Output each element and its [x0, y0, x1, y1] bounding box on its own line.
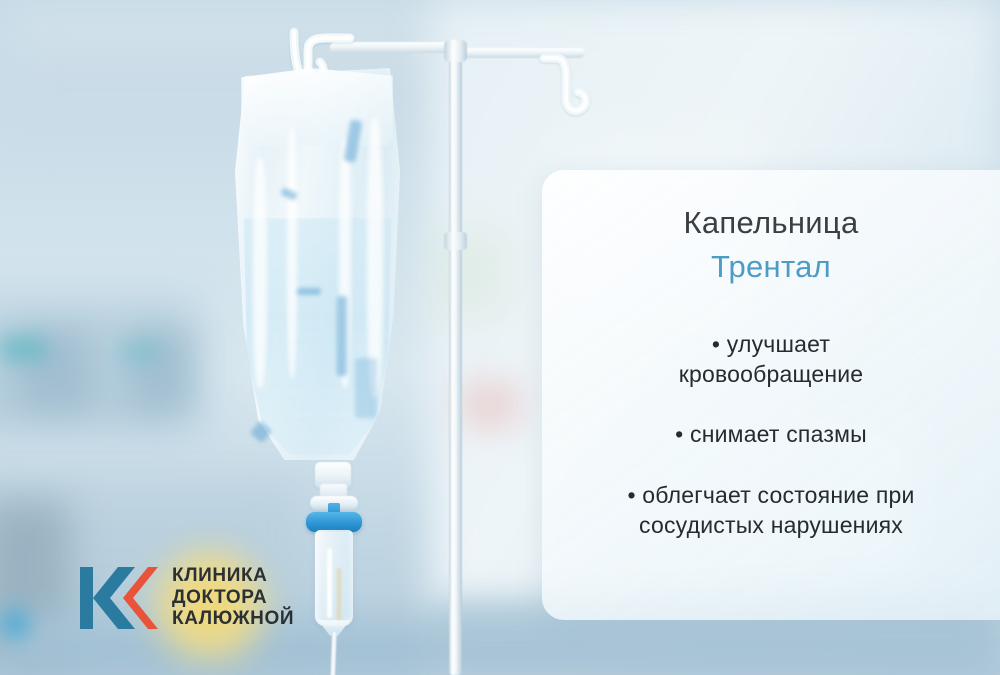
panel-title-accent: Трентал [572, 249, 970, 285]
benefits-list: • улучшает кровообращение • снимает спаз… [572, 329, 970, 541]
iv-fluid-bag [235, 68, 400, 468]
screenshot-canvas: Капельница Трентал • улучшает кровообращ… [0, 0, 1000, 675]
iv-bag-tint-c [337, 296, 347, 376]
clinic-logo-text: КЛИНИКА ДОКТОРА КАЛЮЖНОЙ [172, 566, 294, 630]
drip-chamber-inner-a [327, 548, 332, 618]
background-blue-glow [0, 600, 40, 648]
panel-title: Капельница [572, 204, 970, 243]
list-item: • улучшает кровообращение [580, 329, 962, 390]
drip-chamber-inner-b [337, 568, 341, 622]
iv-pole-collar-top [444, 40, 467, 62]
list-item-line2: сосудистых нарушениях [639, 512, 903, 538]
background-blur-green [430, 230, 510, 320]
iv-pole-collar-mid [444, 232, 467, 250]
list-item: • снимает спазмы [580, 419, 962, 449]
drip-chamber-collar [306, 512, 362, 532]
iv-pole [449, 40, 462, 675]
bullet-marker: • [712, 331, 720, 357]
clinic-logo-line-3: КАЛЮЖНОЙ [172, 609, 294, 630]
background-blur-pink [460, 380, 520, 430]
bullet-marker: • [627, 482, 635, 508]
iv-bag-fold-b [287, 128, 297, 378]
iv-bag-tint-f [355, 358, 377, 418]
list-item-line1: облегчает состояние при [642, 482, 914, 508]
iv-bag-tint-b [297, 288, 321, 295]
drip-chamber [315, 530, 353, 626]
right-hook-icon [538, 40, 618, 140]
background-teal-accent-b [120, 342, 160, 362]
info-panel: Капельница Трентал • улучшает кровообращ… [542, 170, 1000, 620]
list-item-line1: улучшает [727, 331, 830, 357]
list-item: • облегчает состояние при сосудистых нар… [580, 480, 962, 541]
clinic-logo: КЛИНИКА ДОКТОРА КАЛЮЖНОЙ [78, 556, 308, 640]
clinic-logo-line-1: КЛИНИКА [172, 566, 294, 587]
list-item-line1: снимает спазмы [690, 421, 867, 447]
iv-bag-fold-d [367, 118, 383, 398]
bullet-marker: • [675, 421, 683, 447]
iv-bag-fold-a [253, 158, 267, 388]
background-teal-accent-a [0, 336, 46, 362]
list-item-line2: кровообращение [679, 361, 864, 387]
clinic-logo-line-2: ДОКТОРА [172, 588, 294, 609]
kk-monogram-icon [78, 565, 158, 631]
